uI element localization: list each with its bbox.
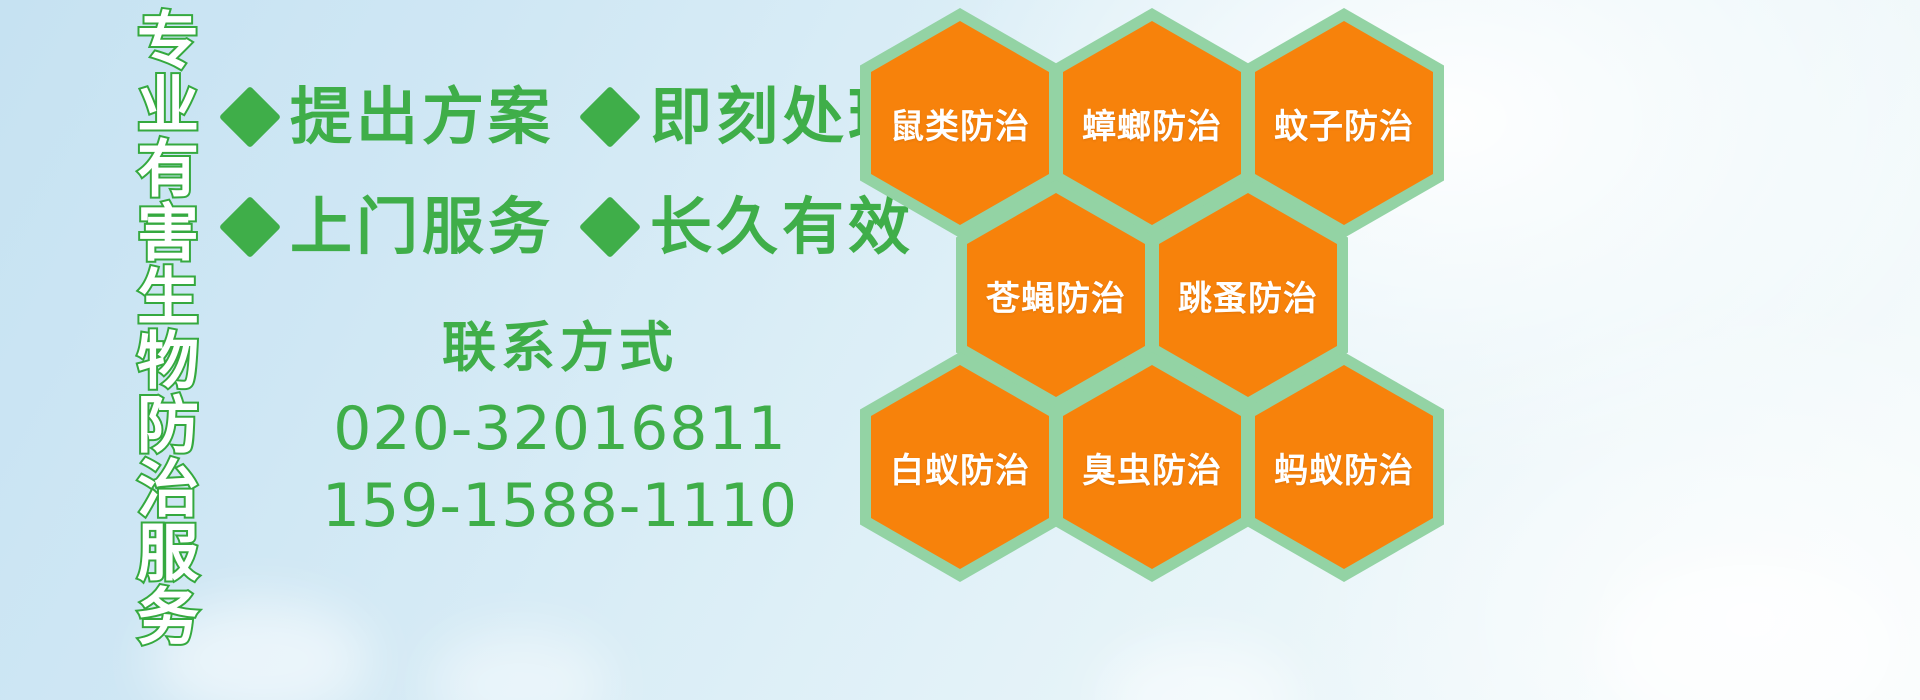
feature-label: 上门服务 <box>290 196 554 258</box>
feature-row-2: 上门服务 长久有效 <box>228 196 914 258</box>
service-label: 白蚁防治 <box>890 443 1030 492</box>
service-label: 鼠类防治 <box>890 99 1030 148</box>
diamond-icon <box>579 196 641 258</box>
diamond-icon <box>219 196 281 258</box>
contact-block: 联系方式 020-32016811 159-1588-1110 <box>300 318 820 545</box>
contact-title: 联系方式 <box>300 318 820 377</box>
service-label: 蟑螂防治 <box>1082 99 1222 148</box>
service-label: 蚂蚁防治 <box>1274 443 1414 492</box>
feature-label: 提出方案 <box>290 86 554 148</box>
phone-number-landline[interactable]: 020-32016811 <box>300 391 820 468</box>
service-label: 跳蚤防治 <box>1178 271 1318 320</box>
vertical-headline: 专业有害生物防治服务 <box>108 8 194 556</box>
service-label: 苍蝇防治 <box>986 271 1126 320</box>
diamond-icon <box>579 86 641 148</box>
promo-banner: 专业有害生物防治服务 提出方案 即刻处理 上门服务 长久有效 联系方式 020-… <box>0 0 1920 700</box>
service-hexagon-grid: 鼠类防治 蟑螂防治 蚊子防治 苍蝇防治 跳蚤防治 白蚁防治 <box>860 0 1920 700</box>
service-hex-termite[interactable]: 白蚁防治 <box>860 352 1060 582</box>
service-label: 臭虫防治 <box>1082 443 1222 492</box>
service-hex-ant[interactable]: 蚂蚁防治 <box>1244 352 1444 582</box>
diamond-icon <box>219 86 281 148</box>
bokeh-blob <box>430 630 610 700</box>
service-label: 蚊子防治 <box>1274 99 1414 148</box>
service-hex-bedbug[interactable]: 臭虫防治 <box>1052 352 1252 582</box>
phone-number-mobile[interactable]: 159-1588-1110 <box>300 468 820 545</box>
feature-item: 提出方案 <box>228 86 554 148</box>
feature-item: 上门服务 <box>228 196 554 258</box>
feature-row-1: 提出方案 即刻处理 <box>228 86 914 148</box>
